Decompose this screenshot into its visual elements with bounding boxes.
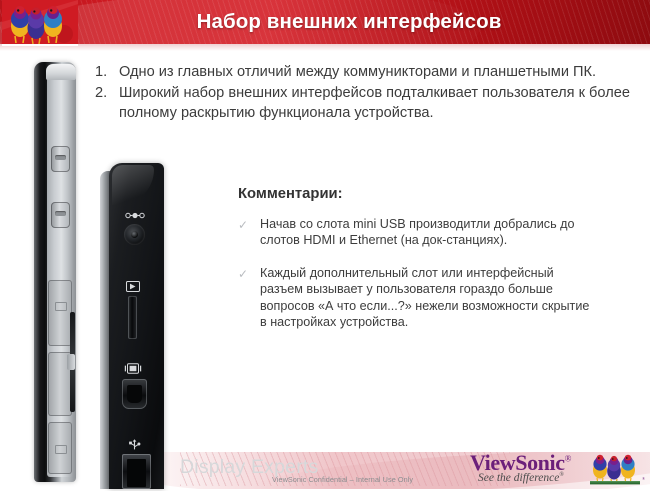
slide-header-banner: Набор внешних интерфейсов xyxy=(0,0,650,44)
tablet-edge-silver-photo xyxy=(34,62,76,482)
headphone-jack-icon xyxy=(125,212,145,219)
list-item-number: 2. xyxy=(95,83,119,123)
comments-heading: Комментарии: xyxy=(238,186,638,202)
silver-port-slot-upper xyxy=(51,146,70,172)
page-title: Набор внешних интерфейсов xyxy=(0,0,650,44)
numbered-list: 1. Одно из главных отличий между коммуни… xyxy=(95,62,640,124)
sd-card-icon xyxy=(126,281,140,292)
silver-tray-mark-upper xyxy=(55,302,67,311)
confidentiality-notice: ViewSonic Confidential – Internal Use On… xyxy=(272,475,413,484)
viewsonic-finches-logo xyxy=(2,0,78,46)
list-item: 1. Одно из главных отличий между коммуни… xyxy=(95,62,640,82)
viewsonic-tagline: See the difference® xyxy=(478,472,564,484)
list-item-text: Одно из главных отличий между коммуникто… xyxy=(119,62,640,82)
usb-icon xyxy=(127,438,142,450)
checkmark-icon: ✓ xyxy=(238,216,260,249)
hdmi-icon xyxy=(124,363,142,374)
list-item: 2. Широкий набор внешних интерфейсов под… xyxy=(95,83,640,123)
list-item: ✓ Начав со слота mini USB производитли д… xyxy=(238,216,638,249)
header-bottom-fade xyxy=(0,44,650,51)
viewsonic-logo-footer: ViewSonic® See the difference® xyxy=(470,452,646,488)
list-item-number: 1. xyxy=(95,62,119,82)
tagline-registered-mark: ® xyxy=(559,472,564,478)
comment-text: Начав со слота mini USB производитли доб… xyxy=(260,216,590,249)
registered-mark: ® xyxy=(565,454,571,464)
hdmi-port xyxy=(122,379,147,409)
sd-card-slot xyxy=(128,296,137,339)
viewsonic-tagline-text: See the difference xyxy=(478,472,559,484)
silver-device-top-cap xyxy=(46,64,76,80)
silver-tray-mark-lower xyxy=(55,445,67,454)
checkmark-icon: ✓ xyxy=(238,265,260,331)
headphone-jack-port xyxy=(124,224,145,245)
silver-port-slot-lower xyxy=(51,202,70,228)
viewsonic-finches-logo-footer: ® xyxy=(588,452,646,486)
comments-block: Комментарии: ✓ Начав со слота mini USB п… xyxy=(238,186,638,346)
tablet-edge-black-photo xyxy=(100,163,164,489)
list-item: ✓ Каждый дополнительный слот или интерфе… xyxy=(238,265,638,331)
silver-tray-upper xyxy=(48,280,72,346)
usb-port xyxy=(122,454,151,489)
svg-text:®: ® xyxy=(642,476,645,481)
silver-side-button xyxy=(67,354,75,370)
list-item-text: Широкий набор внешних интерфейсов подтал… xyxy=(119,83,640,123)
comment-text: Каждый дополнительный слот или интерфейс… xyxy=(260,265,590,331)
